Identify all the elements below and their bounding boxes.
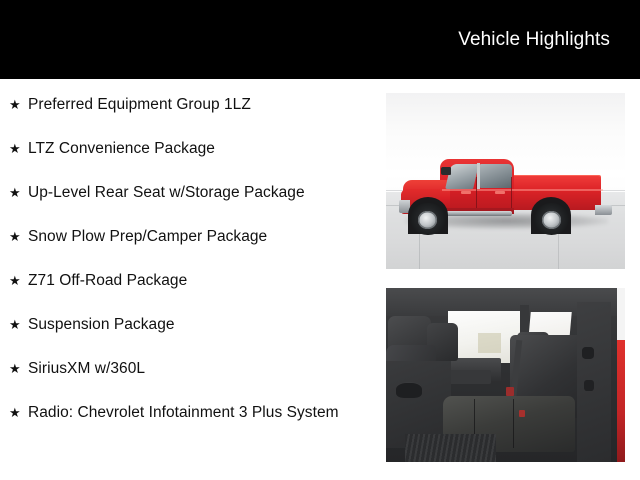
list-item-label: Snow Plow Prep/Camper Package bbox=[28, 225, 348, 248]
list-item: ★ Suspension Package bbox=[0, 313, 378, 336]
cushion-seam bbox=[513, 399, 514, 448]
list-item-label: Preferred Equipment Group 1LZ bbox=[28, 93, 348, 116]
seat-belt-buckle bbox=[506, 387, 514, 396]
truck-front-wheel-rim bbox=[418, 211, 437, 228]
star-bullet-icon: ★ bbox=[9, 313, 21, 336]
truck-door-handle-front bbox=[461, 191, 472, 194]
window-light-edge bbox=[617, 288, 625, 340]
list-item-label: Radio: Chevrolet Infotainment 3 Plus Sys… bbox=[28, 401, 348, 424]
page-title: Vehicle Highlights bbox=[458, 29, 610, 51]
list-item-label: Suspension Package bbox=[28, 313, 348, 336]
list-item: ★ Radio: Chevrolet Infotainment 3 Plus S… bbox=[0, 401, 378, 424]
list-item: ★ Snow Plow Prep/Camper Package bbox=[0, 225, 378, 248]
cabin-interior bbox=[386, 288, 625, 462]
rear-door-panel bbox=[577, 302, 610, 462]
rear-window bbox=[448, 311, 520, 363]
truck-door-seam-front bbox=[476, 177, 477, 209]
list-item: ★ Preferred Equipment Group 1LZ bbox=[0, 93, 378, 116]
list-item: ★ Z71 Off-Road Package bbox=[0, 269, 378, 292]
vehicle-highlights-list: ★ Preferred Equipment Group 1LZ ★ LTZ Co… bbox=[0, 79, 378, 480]
truck-side-mirror bbox=[441, 167, 452, 176]
list-item-label: Up-Level Rear Seat w/Storage Package bbox=[28, 181, 348, 204]
list-item-label: SiriusXM w/360L bbox=[28, 357, 348, 380]
pickup-truck-body bbox=[399, 153, 612, 234]
list-item: ★ LTZ Convenience Package bbox=[0, 137, 378, 160]
star-bullet-icon: ★ bbox=[9, 357, 21, 380]
red-door-edge bbox=[617, 340, 625, 462]
star-bullet-icon: ★ bbox=[9, 181, 21, 204]
star-bullet-icon: ★ bbox=[9, 93, 21, 116]
star-bullet-icon: ★ bbox=[9, 225, 21, 248]
rear-door-grab-handle bbox=[582, 347, 594, 359]
rear-door-armrest bbox=[584, 380, 594, 390]
vehicle-highlights-page: Vehicle Highlights ★ Preferred Equipment… bbox=[0, 0, 640, 480]
door-grab-handle bbox=[396, 382, 422, 398]
header-bar: Vehicle Highlights bbox=[0, 0, 640, 79]
seat-latch bbox=[519, 410, 525, 417]
truck-door-handle-rear bbox=[495, 191, 506, 194]
truck-rear-wheel-rim bbox=[542, 211, 561, 228]
vehicle-exterior-photo bbox=[386, 93, 625, 269]
list-item-label: Z71 Off-Road Package bbox=[28, 269, 348, 292]
studio-backdrop bbox=[386, 93, 625, 269]
truck-rear-door-glass bbox=[480, 164, 512, 188]
star-bullet-icon: ★ bbox=[9, 269, 21, 292]
vehicle-interior-photo bbox=[386, 288, 625, 462]
list-item-label: LTZ Convenience Package bbox=[28, 137, 348, 160]
floor-mat bbox=[405, 434, 496, 462]
truck-running-board bbox=[444, 211, 512, 216]
list-item: ★ SiriusXM w/360L bbox=[0, 357, 378, 380]
star-bullet-icon: ★ bbox=[9, 401, 21, 424]
truck-rear-bumper bbox=[595, 205, 612, 216]
center-console bbox=[448, 370, 491, 384]
star-bullet-icon: ★ bbox=[9, 137, 21, 160]
truck-door-seam-rear bbox=[511, 177, 512, 209]
list-item: ★ Up-Level Rear Seat w/Storage Package bbox=[0, 181, 378, 204]
